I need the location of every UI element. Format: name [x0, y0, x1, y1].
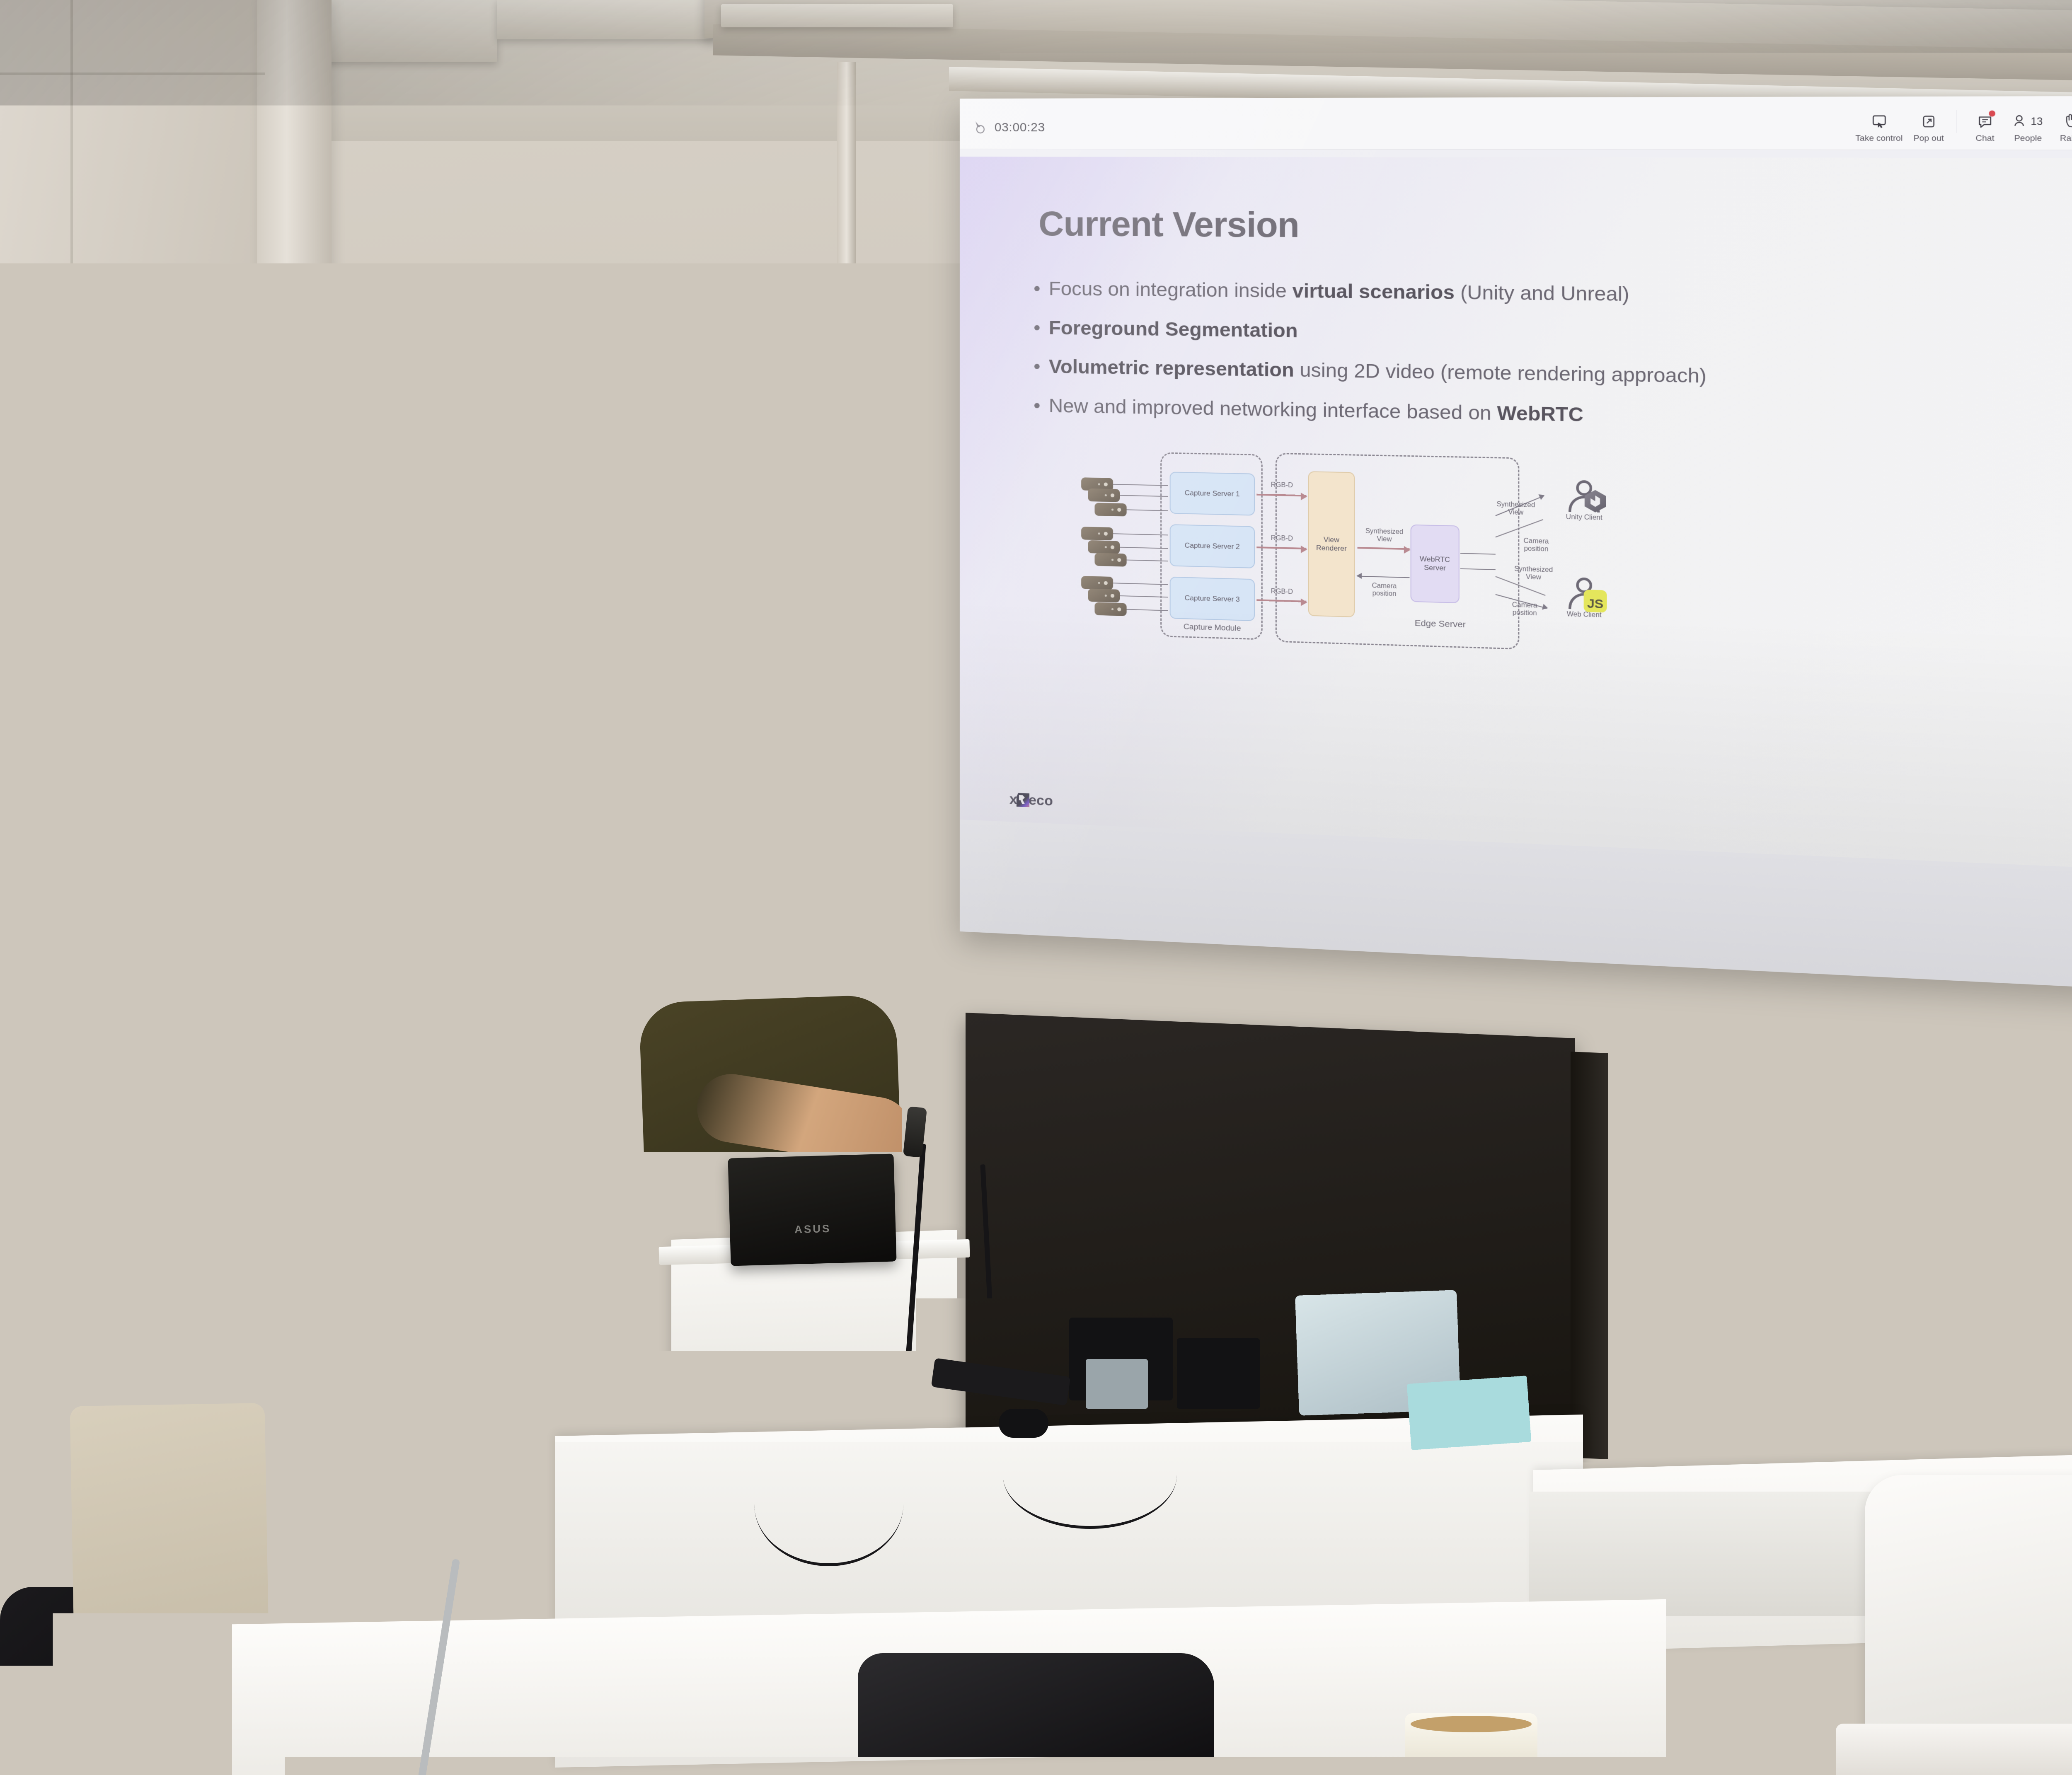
bullet-dot: •	[1034, 317, 1041, 339]
chat-label: Chat	[1975, 134, 1994, 143]
person-avatar-icon	[1568, 480, 1601, 513]
synth-view-label-web: Synthesized View	[1513, 566, 1554, 583]
webrtc-server-label: WebRTC Server	[1411, 554, 1459, 573]
rgbd-label-1: RGB-D	[1263, 481, 1301, 490]
teams-stage: Current Version x eco •	[960, 149, 2072, 1007]
bullet-2: • Foreground Segmentation	[1034, 317, 2072, 354]
capture-server-2: Capture Server 2	[1170, 524, 1255, 568]
meeting-timer: 03:00:23	[960, 121, 1045, 149]
presenter-trousers	[696, 1284, 874, 1574]
people-label: People	[2014, 134, 2042, 143]
rgbd-camera	[1088, 589, 1120, 602]
xreco-x-sm: x	[1009, 791, 1017, 808]
xreco-logo-footer: x eco	[1009, 791, 1053, 810]
capture-server-3: Capture Server 3	[1170, 577, 1255, 621]
chat-unread-badge	[1989, 111, 1995, 117]
slide-thumbnails-icon[interactable]	[1116, 847, 1132, 866]
capture-server-1: Capture Server 1	[1170, 472, 1255, 515]
camera-link	[1113, 583, 1168, 585]
emergency-exit-sign	[533, 733, 665, 786]
cable-1	[1003, 1421, 1177, 1529]
audience-trousers	[70, 1403, 271, 1763]
flipchart-brand-label: Legamaster	[396, 859, 448, 871]
audience-watch	[247, 1124, 279, 1154]
chevron-left-icon[interactable]: ‹	[997, 842, 1002, 860]
desk-equipment-gray	[1086, 1359, 1148, 1409]
paper-cup	[1405, 1713, 1537, 1775]
pop-out-icon	[1920, 111, 1937, 132]
slide-bullets: • Focus on integration inside virtual sc…	[1034, 278, 2072, 456]
rgbd-label-3: RGB-D	[1263, 588, 1301, 596]
view-renderer-label: View Renderer	[1309, 535, 1354, 553]
notausgang-title: Notausgang	[567, 995, 654, 1015]
rgbd-camera	[1088, 488, 1120, 502]
bullet-1: • Focus on integration inside virtual sc…	[1034, 278, 2072, 312]
bullet-3: • Volumetric representation using 2D vid…	[1034, 355, 2072, 396]
bullet-dot: •	[1034, 394, 1041, 416]
take-control-button[interactable]: Take control	[1852, 110, 1907, 145]
teal-instruction-card	[1407, 1376, 1531, 1450]
rgbd-camera	[1094, 503, 1126, 516]
take-control-label: Take control	[1855, 134, 1903, 143]
wifi-access-point	[823, 675, 897, 725]
running-man-icon	[595, 742, 641, 780]
camera-link	[1113, 533, 1168, 535]
desk-equipment-box	[1177, 1338, 1260, 1409]
take-control-icon	[1871, 111, 1887, 132]
rgbd-label-2: RGB-D	[1263, 534, 1301, 543]
bullet-dot: •	[1034, 355, 1041, 377]
slide-position: 5 of 17	[1025, 844, 1066, 861]
projection-screen: 03:00:23 Take control Pop out	[960, 95, 2072, 1008]
bullet-2-text: Foreground Segmentation	[1049, 317, 1298, 342]
pop-out-label: Pop out	[1913, 134, 1944, 143]
chevron-right-icon[interactable]: ›	[1088, 846, 1094, 864]
js-badge-icon: JS	[1584, 590, 1607, 613]
bullet-4: • New and improved networking interface …	[1034, 394, 2072, 438]
xreco-mark-icon-sm	[1017, 793, 1029, 807]
rgbd-camera	[1088, 540, 1120, 554]
view-renderer-box: View Renderer	[1308, 471, 1355, 617]
unity-client-label: Unity Client	[1557, 513, 1611, 522]
teams-toolbar: 03:00:23 Take control Pop out	[960, 95, 2072, 151]
architecture-diagram: Capture Server 1 Capture Server 2 Captur…	[1064, 445, 1816, 664]
toolbar-actions: Take control Pop out Ch	[1852, 109, 2072, 150]
capture-server-2-label: Capture Server 2	[1185, 541, 1240, 551]
synth-view-label-main: Synthesized View	[1362, 527, 1407, 544]
people-icon: 13	[2013, 111, 2043, 132]
office-chair-back[interactable]	[1865, 1475, 2072, 1765]
teams-window: 03:00:23 Take control Pop out	[960, 95, 2072, 1008]
camera-lens	[497, 1071, 532, 1106]
camera-link	[1113, 484, 1168, 486]
rgbd-camera	[1094, 602, 1126, 616]
rgbd-camera	[1081, 527, 1113, 540]
slide-navigation: ‹ 5 of 17 › …	[978, 833, 1239, 877]
web-client: JS Web Client	[1557, 577, 1611, 619]
audience-shirt	[18, 1003, 276, 1421]
camera-position-label-unity: Camera position	[1516, 537, 1556, 554]
ceiling-beam-b	[497, 0, 713, 39]
ceiling-lamp-box	[721, 4, 953, 27]
cable-2	[883, 1458, 1007, 1632]
foreground-headset	[858, 1653, 1214, 1775]
capture-server-3-label: Capture Server 3	[1185, 594, 1240, 604]
unity-client: Unity Client	[1557, 480, 1611, 522]
people-count: 13	[2031, 116, 2043, 128]
toolbar-separator-1	[1956, 110, 1957, 133]
tripod-column	[492, 1106, 507, 1239]
xreco-eco-sm: eco	[1029, 792, 1053, 810]
bullet-1-text: Focus on integration inside virtual scen…	[1049, 278, 1629, 305]
wall-blackboard-edge	[1571, 1052, 1608, 1459]
capture-server-1-label: Capture Server 1	[1185, 489, 1240, 499]
slide-title: Current Version	[1038, 203, 1299, 246]
raise-hand-button[interactable]: Raise	[2050, 109, 2072, 145]
rgbd-camera	[1094, 553, 1126, 566]
people-button[interactable]: 13 People	[2007, 109, 2049, 144]
screenshot-root: Notausgang Diese Tür darf nicht zugestel…	[0, 0, 2072, 1775]
chat-button[interactable]: Chat	[1964, 109, 2005, 144]
share-cursor-icon	[974, 121, 988, 135]
pop-out-button[interactable]: Pop out	[1908, 110, 1949, 145]
office-chair-seat	[1836, 1724, 2072, 1775]
rgbd-camera	[1081, 576, 1113, 590]
raise-hand-icon	[2063, 111, 2072, 131]
timer-text: 03:00:23	[995, 121, 1045, 135]
camera-position-label-web: Camera position	[1504, 601, 1545, 618]
raise-label: Raise	[2060, 134, 2072, 144]
bullet-3-text: Volumetric representation using 2D video…	[1049, 355, 1706, 387]
camera-position-label-main: Camera position	[1362, 582, 1407, 599]
bullet-dot: •	[1034, 278, 1041, 300]
powerpoint-slide: Current Version x eco •	[960, 157, 2072, 877]
wall-seam-b	[0, 73, 265, 75]
access-point-led	[856, 696, 867, 700]
person-avatar-icon: JS	[1568, 577, 1601, 610]
shared-slide-area: Current Version x eco •	[960, 149, 2072, 999]
webrtc-server-box: WebRTC Server	[1411, 525, 1460, 603]
slide-more-icon[interactable]: …	[1155, 849, 1171, 867]
flipchart-base	[257, 1533, 456, 1545]
ceiling-drop-bar	[837, 62, 856, 709]
bullet-4-text: New and improved networking interface ba…	[1049, 394, 1583, 426]
synth-view-label-unity: Synthesized View	[1496, 501, 1536, 517]
